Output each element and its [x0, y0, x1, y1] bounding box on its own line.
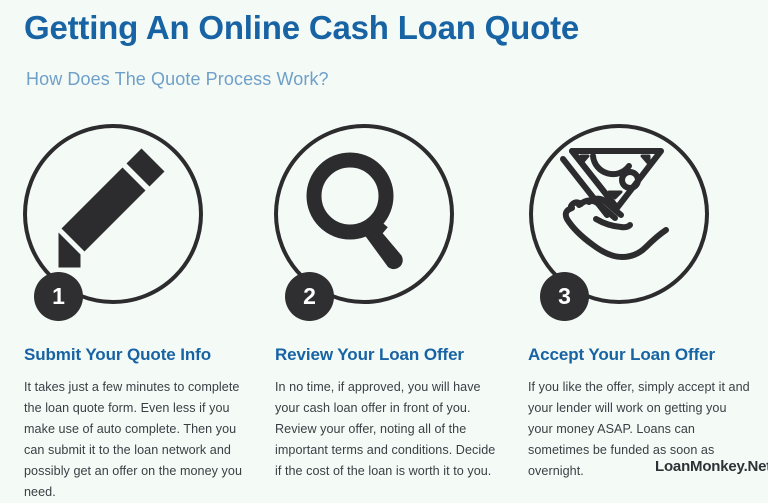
step-body-2: In no time, if approved, you will have y…: [275, 377, 500, 482]
site-watermark: LoanMonkey.Net: [655, 457, 768, 477]
step-heading-3: Accept Your Loan Offer: [528, 344, 753, 366]
step-icon-cell-3: 3: [520, 120, 720, 325]
step-number-badge-1: 1: [34, 272, 83, 321]
step-number-badge-3: 3: [540, 272, 589, 321]
step-number-badge-2: 2: [285, 272, 334, 321]
step-heading-1: Submit Your Quote Info: [24, 344, 249, 366]
header: Getting An Online Cash Loan Quote How Do…: [24, 8, 744, 92]
step-column-1: Submit Your Quote Info It takes just a f…: [24, 344, 249, 503]
step-text-row: Submit Your Quote Info It takes just a f…: [0, 344, 768, 503]
step-column-2: Review Your Loan Offer In no time, if ap…: [275, 344, 500, 482]
infographic-page: Getting An Online Cash Loan Quote How Do…: [0, 0, 768, 503]
step-body-1: It takes just a few minutes to complete …: [24, 377, 249, 503]
step-icon-cell-1: 1: [14, 120, 214, 325]
page-title: Getting An Online Cash Loan Quote: [24, 8, 744, 48]
step-heading-2: Review Your Loan Offer: [275, 344, 500, 366]
step-icon-row: 1 2: [0, 120, 768, 330]
page-subtitle: How Does The Quote Process Work?: [26, 66, 744, 92]
step-icon-cell-2: 2: [265, 120, 465, 325]
